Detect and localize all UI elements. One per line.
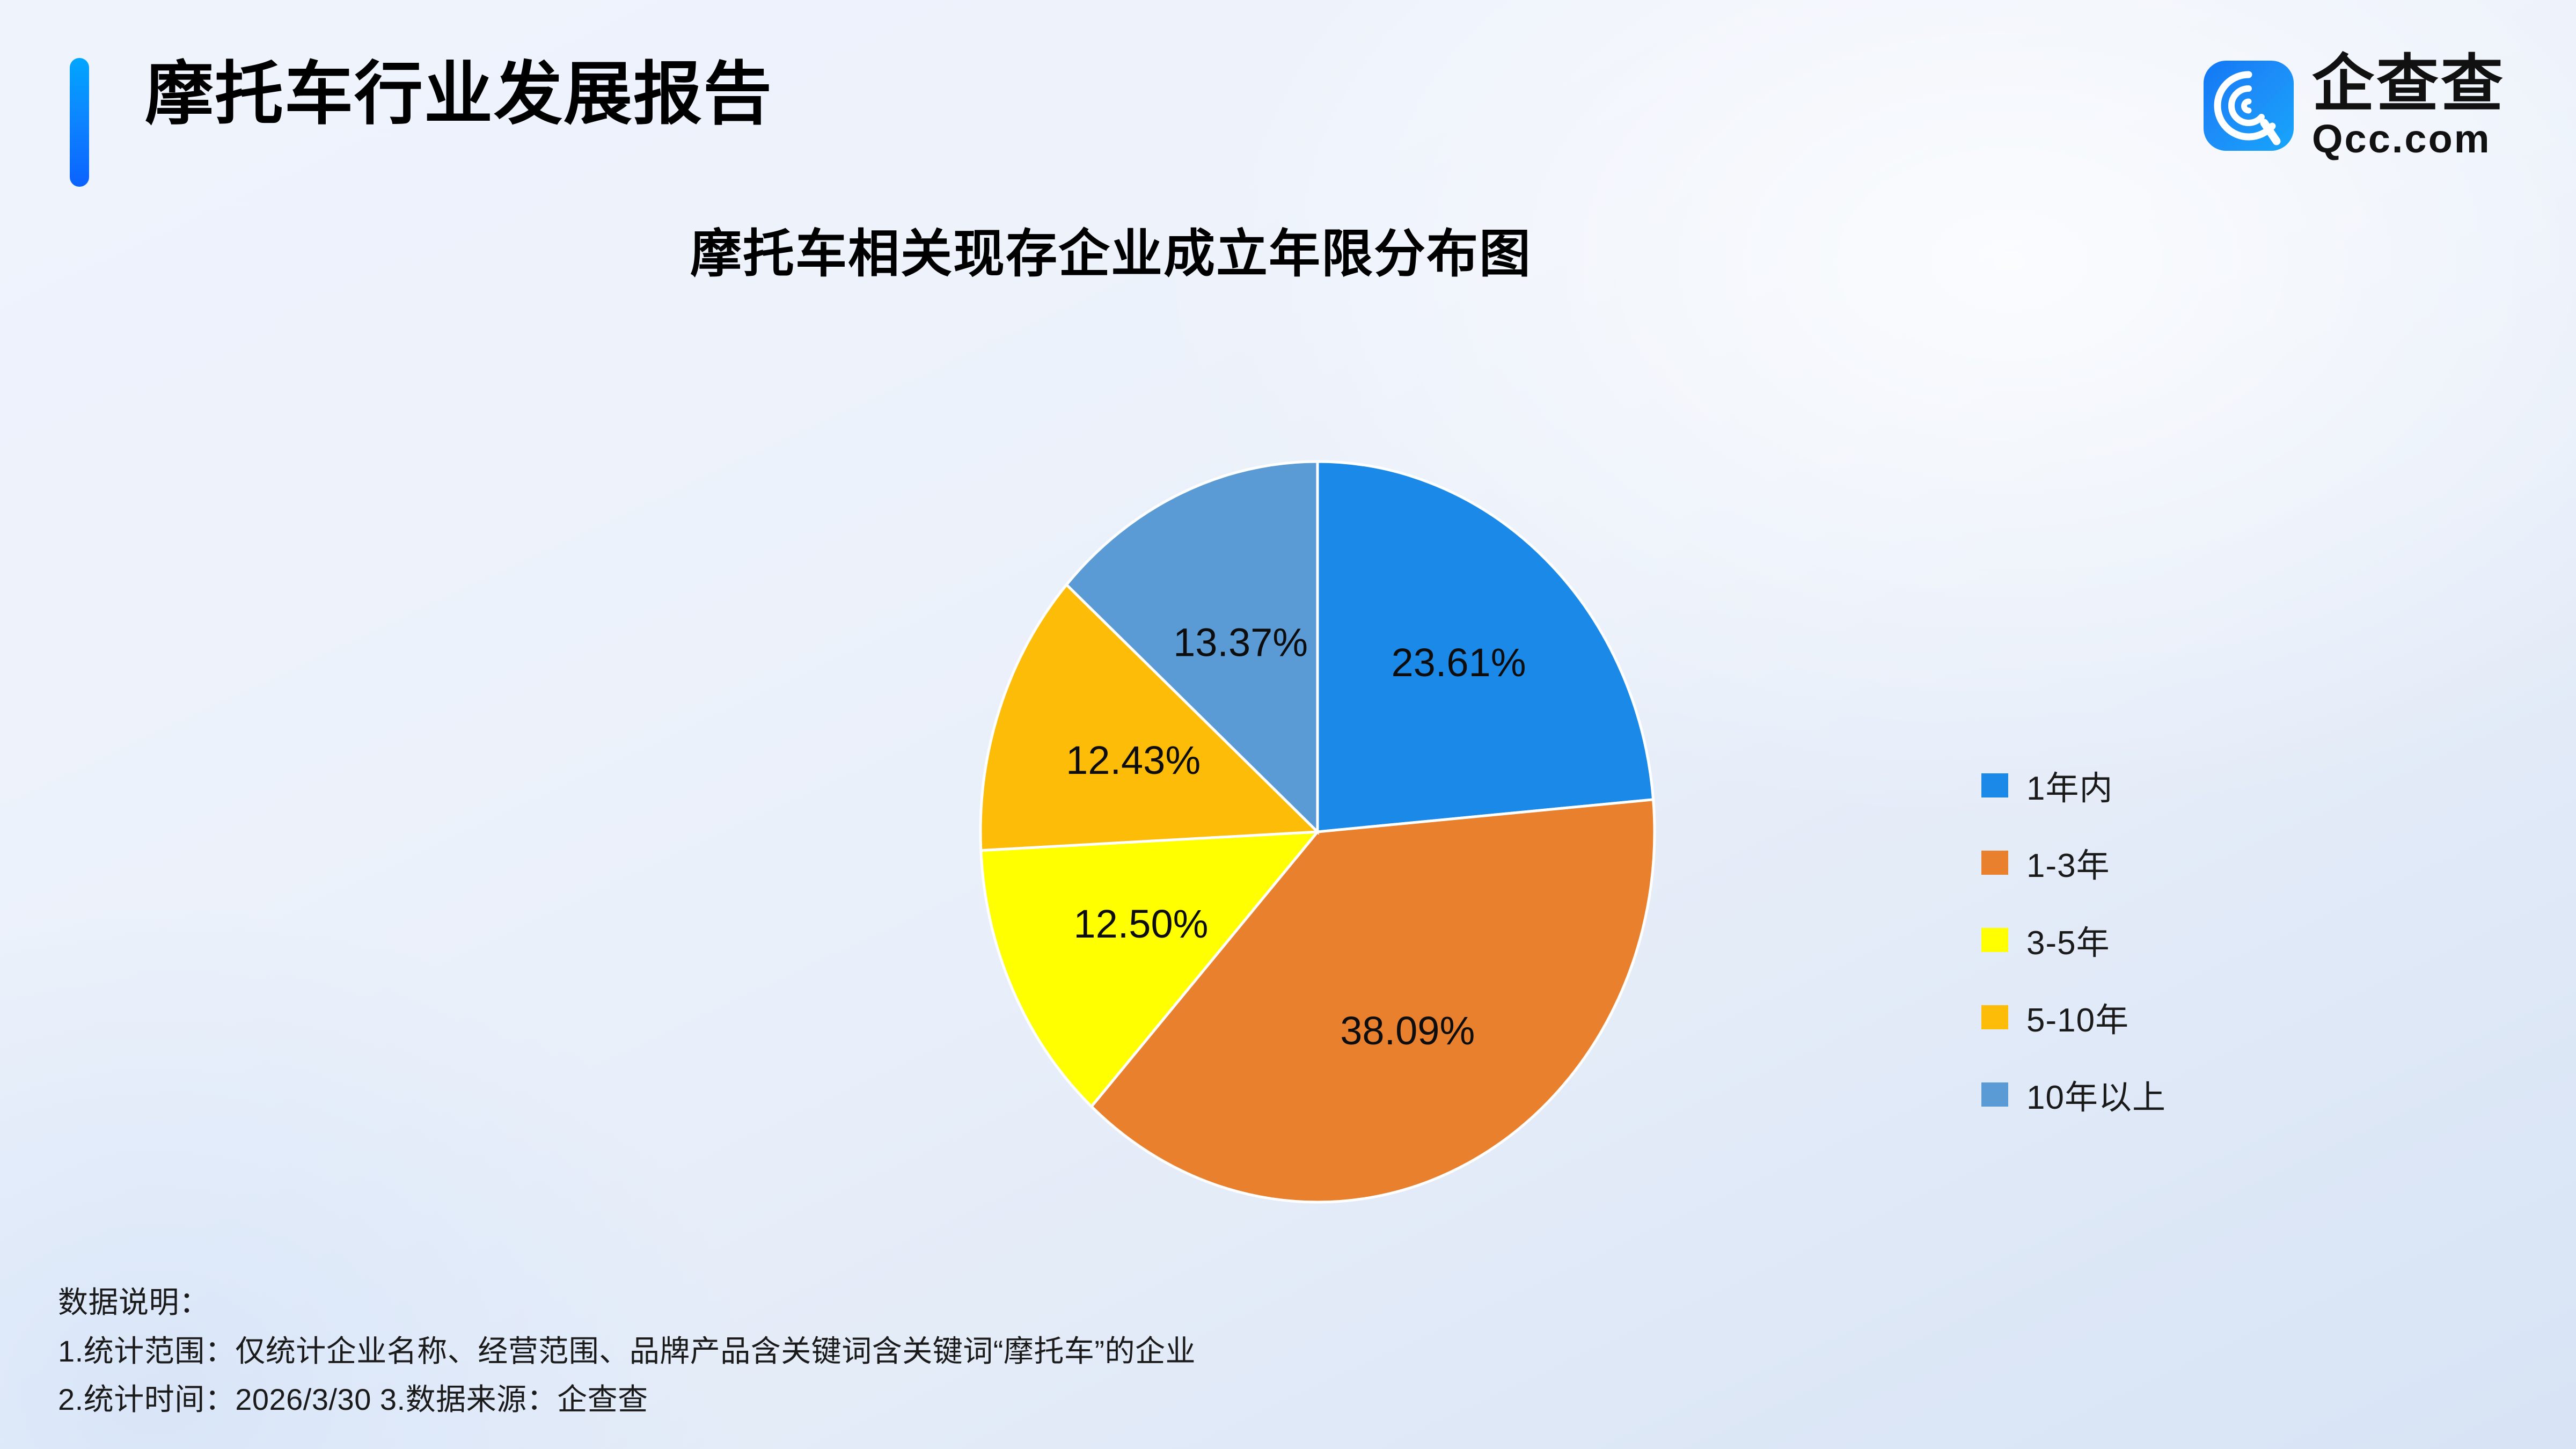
pie-chart-svg: 23.61%38.09%12.50%12.43%13.37% xyxy=(961,424,1674,1240)
brand-name-cn: 企查查 xyxy=(2312,53,2505,115)
footnotes: 数据说明： 1.统计范围：仅统计企业名称、经营范围、品牌产品含关键词含关键词“摩… xyxy=(58,1286,1196,1417)
pie-slice-value-label: 12.43% xyxy=(1066,738,1201,782)
brand-logo: 企查查 Qcc.com xyxy=(2204,53,2505,159)
legend-item[interactable]: 3-5年 xyxy=(1981,923,2166,956)
footnote-time-source: 2.统计时间：2026/3/30 3.数据来源：企查查 xyxy=(58,1383,1196,1417)
legend-item[interactable]: 1-3年 xyxy=(1981,846,2166,879)
title-accent-bar xyxy=(70,58,89,187)
chart-title: 摩托车相关现存企业成立年限分布图 xyxy=(0,212,2576,287)
legend-item[interactable]: 10年以上 xyxy=(1981,1078,2166,1111)
legend-label: 10年以上 xyxy=(2026,1070,2166,1118)
chart-legend: 1年内1-3年3-5年5-10年10年以上 xyxy=(1981,769,2166,1111)
footnote-scope: 1.统计范围：仅统计企业名称、经营范围、品牌产品含关键词含关键词“摩托车”的企业 xyxy=(58,1335,1196,1368)
qcc-spiral-logo-icon xyxy=(2204,61,2294,151)
pie-chart: 23.61%38.09%12.50%12.43%13.37% xyxy=(961,424,1674,1240)
legend-label: 5-10年 xyxy=(2026,993,2129,1041)
legend-swatch-icon xyxy=(1981,773,2008,797)
brand-name-en: Qcc.com xyxy=(2312,119,2505,159)
legend-label: 1年内 xyxy=(2026,761,2113,809)
pie-slice-value-label: 38.09% xyxy=(1340,1008,1475,1053)
footnote-heading: 数据说明： xyxy=(58,1286,1196,1320)
legend-label: 1-3年 xyxy=(2026,838,2110,887)
pie-slice-value-label: 23.61% xyxy=(1392,640,1526,685)
page-header: 摩托车行业发展报告 企查查 Qcc.com xyxy=(0,0,2576,193)
legend-swatch-icon xyxy=(1981,1005,2008,1029)
chart-title-text: 摩托车相关现存企业成立年限分布图 xyxy=(690,212,1532,287)
legend-label: 3-5年 xyxy=(2026,916,2110,964)
legend-item[interactable]: 1年内 xyxy=(1981,769,2166,802)
pie-slice-value-label: 12.50% xyxy=(1073,902,1208,946)
pie-slice-value-label: 13.37% xyxy=(1173,620,1308,665)
legend-swatch-icon xyxy=(1981,851,2008,875)
legend-swatch-icon xyxy=(1981,928,2008,952)
legend-item[interactable]: 5-10年 xyxy=(1981,1000,2166,1034)
page-title: 摩托车行业发展报告 xyxy=(145,60,773,129)
legend-swatch-icon xyxy=(1981,1082,2008,1107)
